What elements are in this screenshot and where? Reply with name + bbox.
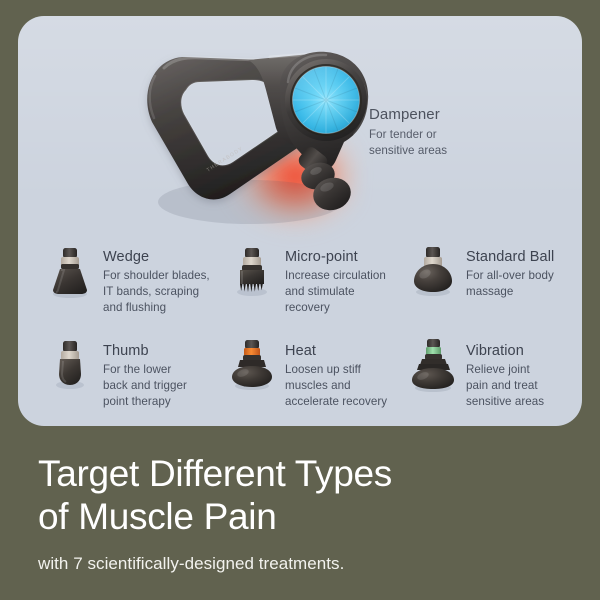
attachment-item-thumb[interactable]: Thumb For the lower back and trigger poi… — [46, 336, 246, 410]
attachment-item-vibration[interactable]: Vibration Relieve joint pain and treat s… — [409, 336, 579, 410]
callout-dampener: Dampener For tender or sensitive areas — [369, 106, 549, 159]
attachment-desc: Relieve joint pain and treat sensitive a… — [466, 362, 544, 410]
attachment-item-wedge[interactable]: Wedge For shoulder blades, IT bands, scr… — [46, 242, 246, 316]
device-illustration: THERABODY — [130, 24, 380, 264]
vibration-attachment-icon — [409, 336, 457, 394]
attachment-micro-point-text: Micro-point Increase circulation and sti… — [285, 242, 386, 316]
attachment-desc: For the lower back and trigger point the… — [103, 362, 187, 410]
heat-attachment-icon — [228, 336, 276, 394]
power-dial — [285, 59, 367, 141]
headline-block: Target Different Types of Muscle Pain wi… — [38, 452, 558, 574]
wedge-attachment-icon — [46, 242, 94, 300]
micro-point-attachment-icon — [228, 242, 276, 300]
product-card: THERABODY — [18, 16, 582, 426]
standard-ball-attachment-icon — [409, 242, 457, 300]
attachment-title: Standard Ball — [466, 248, 554, 266]
attachment-title: Vibration — [466, 342, 544, 360]
attachment-standard-ball-text: Standard Ball For all-over body massage — [466, 242, 554, 300]
attachment-thumb-text: Thumb For the lower back and trigger poi… — [103, 336, 187, 410]
attachment-desc: For all-over body massage — [466, 268, 554, 300]
attachment-item-standard-ball[interactable]: Standard Ball For all-over body massage — [409, 242, 579, 300]
page-title-line-1: Target Different Types — [38, 453, 392, 494]
page-title: Target Different Types of Muscle Pain — [38, 452, 558, 539]
thumb-attachment-icon — [46, 336, 94, 394]
attachment-grid: Wedge For shoulder blades, IT bands, scr… — [18, 230, 582, 426]
page-subtitle: with 7 scientifically-designed treatment… — [38, 554, 558, 574]
attachment-desc: Increase circulation and stimulate recov… — [285, 268, 386, 316]
poster-root: THERABODY — [0, 0, 600, 600]
attachment-title: Wedge — [103, 248, 210, 266]
attachment-title: Micro-point — [285, 248, 386, 266]
callout-dampener-desc: For tender or sensitive areas — [369, 127, 549, 159]
attachment-title: Thumb — [103, 342, 187, 360]
attachment-wedge-text: Wedge For shoulder blades, IT bands, scr… — [103, 242, 210, 316]
attachment-desc: Loosen up stiff muscles and accelerate r… — [285, 362, 387, 410]
attachment-item-micro-point[interactable]: Micro-point Increase circulation and sti… — [228, 242, 413, 316]
massage-gun-graphic: THERABODY — [130, 24, 380, 264]
attachment-title: Heat — [285, 342, 387, 360]
attachment-heat-text: Heat Loosen up stiff muscles and acceler… — [285, 336, 387, 410]
attachment-desc: For shoulder blades, IT bands, scraping … — [103, 268, 210, 316]
attachment-item-heat[interactable]: Heat Loosen up stiff muscles and acceler… — [228, 336, 413, 410]
callout-dampener-title: Dampener — [369, 106, 549, 125]
attachment-vibration-text: Vibration Relieve joint pain and treat s… — [466, 336, 544, 410]
page-title-line-2: of Muscle Pain — [38, 496, 276, 537]
